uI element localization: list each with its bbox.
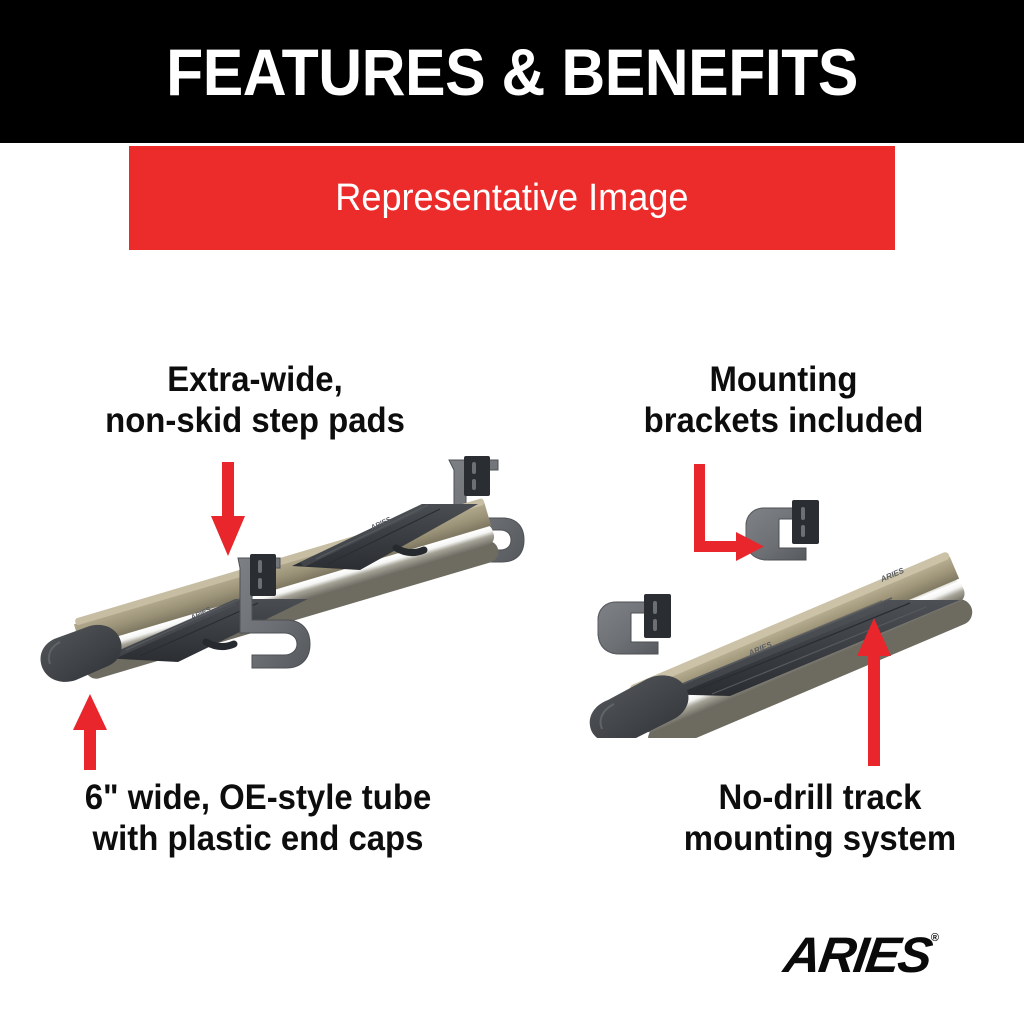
- product-image-running-board-assembled: ARIES ARIES: [30, 448, 550, 710]
- callout-no-drill-track: No-drill track mounting system: [632, 778, 1008, 859]
- callout-mounting-brackets: Mounting brackets included: [570, 360, 998, 441]
- aries-logo-wordmark: ARIES: [781, 930, 934, 980]
- detached-bracket-upper: [746, 500, 819, 560]
- registered-trademark-symbol: ®: [931, 932, 939, 944]
- product-image-running-board-exploded: ARIES ARIES: [560, 470, 1010, 738]
- representative-image-banner: Representative Image: [129, 146, 895, 250]
- page-title: FEATURES & BENEFITS: [166, 39, 858, 105]
- infographic-page: FEATURES & BENEFITS Representative Image: [0, 0, 1024, 1024]
- callout-oe-style-tube: 6" wide, OE-style tube with plastic end …: [23, 778, 493, 859]
- aries-logo: ARIES®: [786, 930, 986, 982]
- detached-bracket-lower: [598, 594, 671, 654]
- representative-image-label: Representative Image: [335, 179, 688, 217]
- callout-extra-wide-step-pads: Extra-wide, non-skid step pads: [34, 360, 476, 441]
- header-bar: FEATURES & BENEFITS: [0, 0, 1024, 143]
